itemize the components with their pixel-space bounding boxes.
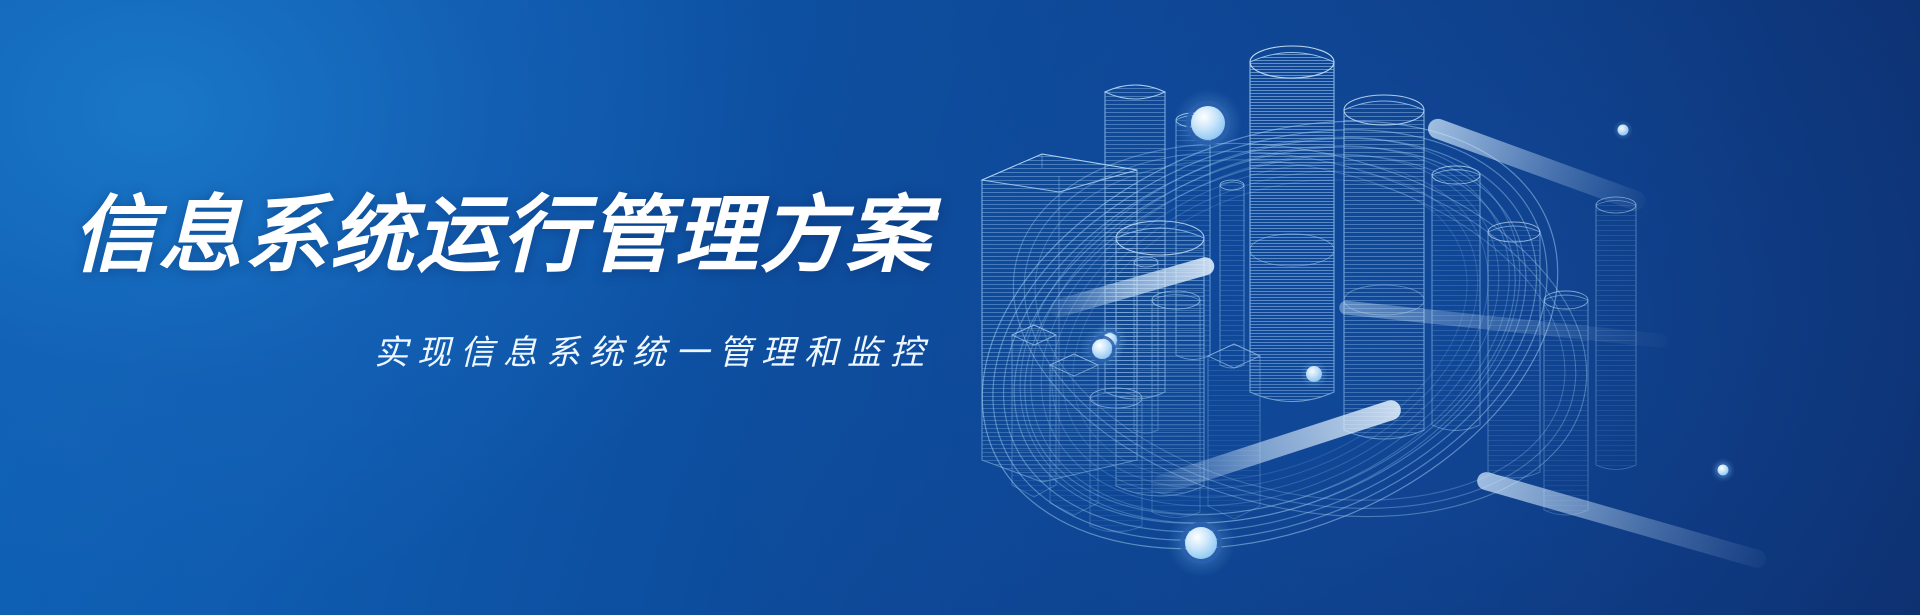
light-streak-mid: [1339, 300, 1669, 348]
tower-right-edge-3: [1544, 291, 1588, 515]
banner-main-title: 信息系统运行管理方案: [72, 190, 932, 281]
tower-slim-1: [1176, 113, 1210, 360]
glow-dots: [1080, 89, 1735, 577]
glow-dot-left-mid: [1080, 327, 1124, 371]
glow-dot-lower-left: [1102, 348, 1104, 350]
glow-dot-bottom: [1167, 509, 1235, 577]
tower-tall-right: [1250, 46, 1334, 402]
tower-slim-2: [1220, 180, 1244, 368]
tower-low-2: [1050, 354, 1098, 515]
wireframe-towers: [982, 46, 1636, 532]
glow-dot-top-right-small: [1613, 120, 1633, 140]
banner-root: 信息系统运行管理方案 实现信息系统统一管理和监控: [0, 0, 1920, 615]
tower-mid-front: [1116, 221, 1204, 496]
glow-dot-left: [1092, 322, 1128, 358]
banner-sub-title: 实现信息系统统一管理和监控: [374, 333, 933, 374]
orbital-rings-back: [959, 63, 1581, 598]
glow-dot-right-small: [1711, 458, 1735, 482]
tower-low-3: [1090, 388, 1142, 532]
tower-slim-3: [1134, 257, 1158, 433]
light-streak-lower-right: [1475, 470, 1768, 570]
light-streak-upper-left: [1048, 255, 1216, 319]
light-streak-upper-right: [1425, 116, 1648, 213]
glow-dot-mid-small: [1300, 360, 1328, 388]
glow-dot-top: [1174, 89, 1242, 157]
banner-text-block: 信息系统运行管理方案 实现信息系统统一管理和监控: [0, 0, 1000, 615]
tower-low-5: [1208, 344, 1260, 519]
tower-mid-left: [982, 154, 1137, 482]
tower-tall-right-2: [1344, 95, 1424, 439]
orbital-rings-front: [920, 41, 1626, 615]
tower-right-edge-1: [1432, 166, 1480, 431]
light-streaks: [1048, 116, 1768, 570]
tower-low-1: [1012, 325, 1056, 497]
tower-right-edge-2: [1488, 222, 1540, 478]
tower-far-right-1: [1596, 197, 1636, 470]
tower-back-a: [1105, 85, 1165, 399]
light-streak-lower: [1150, 398, 1403, 497]
tower-low-4: [1152, 291, 1200, 518]
wireframe-city-graphic: [920, 0, 1920, 615]
